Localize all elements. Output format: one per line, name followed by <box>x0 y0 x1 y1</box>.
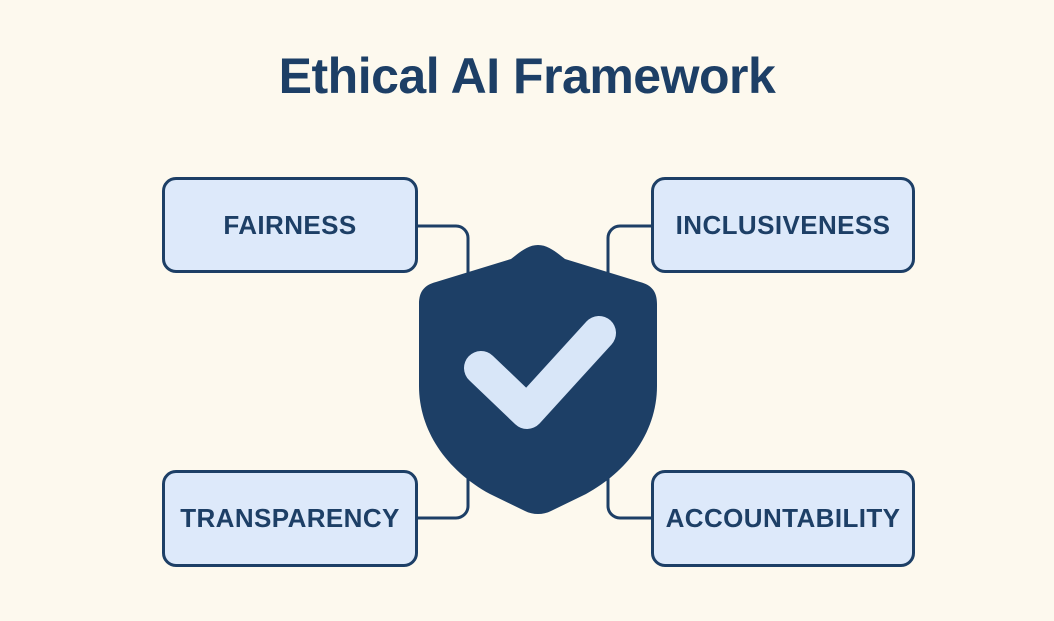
node-fairness-label: FAIRNESS <box>223 210 356 241</box>
node-inclusiveness-label: INCLUSIVENESS <box>676 210 891 241</box>
node-accountability-label: ACCOUNTABILITY <box>666 503 901 534</box>
node-accountability[interactable]: ACCOUNTABILITY <box>651 470 915 567</box>
node-transparency[interactable]: TRANSPARENCY <box>162 470 418 567</box>
node-inclusiveness[interactable]: INCLUSIVENESS <box>651 177 915 273</box>
diagram-canvas: Ethical AI Framework FAIRNESS INCLUSIVEN… <box>0 0 1054 621</box>
node-transparency-label: TRANSPARENCY <box>180 503 400 534</box>
node-fairness[interactable]: FAIRNESS <box>162 177 418 273</box>
